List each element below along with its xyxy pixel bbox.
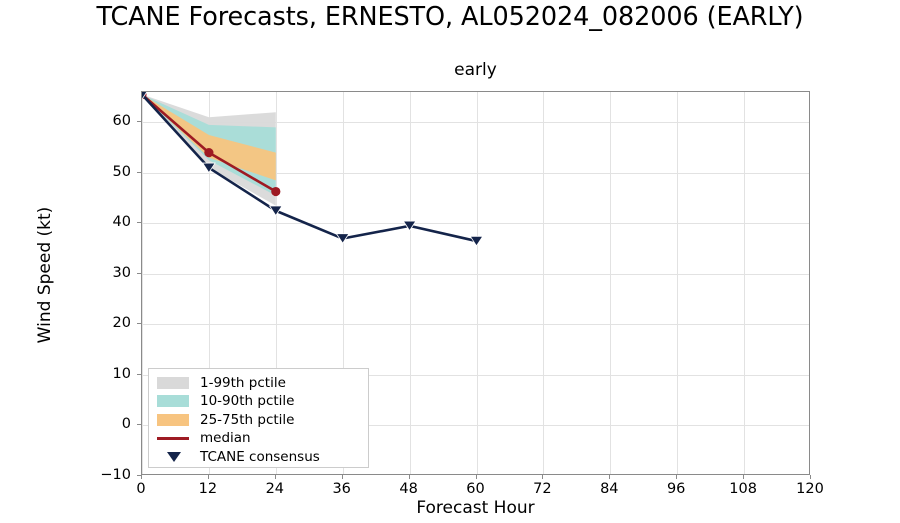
y-tick-label: −10 [71, 466, 131, 484]
legend-label: 25-75th pctile [200, 412, 294, 428]
y-axis-label: Wind Speed (kt) [35, 175, 55, 375]
legend-label: TCANE consensus [200, 449, 320, 465]
y-tick-label: 60 [71, 112, 131, 130]
y-tick [137, 172, 141, 173]
y-tick [137, 323, 141, 324]
x-tick [542, 475, 543, 479]
x-tick-label: 96 [646, 481, 706, 497]
x-tick [476, 475, 477, 479]
y-tick-label: 30 [71, 264, 131, 282]
x-tick [609, 475, 610, 479]
legend-swatch [155, 411, 191, 429]
y-tick-label: 20 [71, 314, 131, 332]
x-tick [810, 475, 811, 479]
legend-item: median [155, 429, 362, 447]
y-tick [137, 374, 141, 375]
x-tick-label: 120 [780, 481, 840, 497]
legend-line-icon [157, 437, 189, 440]
legend-item: 25-75th pctile [155, 411, 362, 429]
axes-title: early [141, 60, 810, 80]
legend-triangle-down-icon [167, 452, 181, 462]
x-tick-label: 60 [446, 481, 506, 497]
y-tick [137, 121, 141, 122]
legend-swatch [155, 448, 191, 466]
x-tick-label: 12 [178, 481, 238, 497]
legend-item: TCANE consensus [155, 448, 362, 466]
legend-patch-icon [157, 377, 189, 389]
legend-label: 10-90th pctile [200, 393, 294, 409]
x-tick [743, 475, 744, 479]
figure-title: TCANE Forecasts, ERNESTO, AL052024_08200… [0, 2, 900, 32]
marker-tcane-consensus [270, 206, 282, 216]
x-tick [409, 475, 410, 479]
legend-swatch [155, 374, 191, 392]
legend-item: 10-90th pctile [155, 392, 362, 410]
y-tick-label: 40 [71, 213, 131, 231]
x-tick-label: 48 [379, 481, 439, 497]
x-tick-label: 24 [245, 481, 305, 497]
x-tick [275, 475, 276, 479]
legend: 1-99th pctile10-90th pctile25-75th pctil… [148, 368, 369, 468]
x-tick-label: 72 [512, 481, 572, 497]
chart-figure: TCANE Forecasts, ERNESTO, AL052024_08200… [0, 0, 900, 523]
x-tick [141, 475, 142, 479]
legend-swatch [155, 392, 191, 410]
legend-item: 1-99th pctile [155, 374, 362, 392]
x-tick [208, 475, 209, 479]
x-tick-label: 84 [579, 481, 639, 497]
y-tick [137, 424, 141, 425]
marker-median [271, 187, 280, 196]
y-tick-label: 0 [71, 415, 131, 433]
legend-swatch [155, 429, 191, 447]
y-tick-label: 10 [71, 365, 131, 383]
legend-patch-icon [157, 414, 189, 426]
x-axis-label: Forecast Hour [141, 498, 810, 518]
legend-label: 1-99th pctile [200, 375, 286, 391]
x-tick-label: 36 [312, 481, 372, 497]
legend-label: median [200, 430, 251, 446]
y-tick [137, 475, 141, 476]
y-tick [137, 222, 141, 223]
x-tick [342, 475, 343, 479]
x-tick-label: 108 [713, 481, 773, 497]
y-tick-label: 50 [71, 163, 131, 181]
marker-median [204, 148, 213, 157]
x-tick [676, 475, 677, 479]
y-tick [137, 273, 141, 274]
legend-patch-icon [157, 395, 189, 407]
